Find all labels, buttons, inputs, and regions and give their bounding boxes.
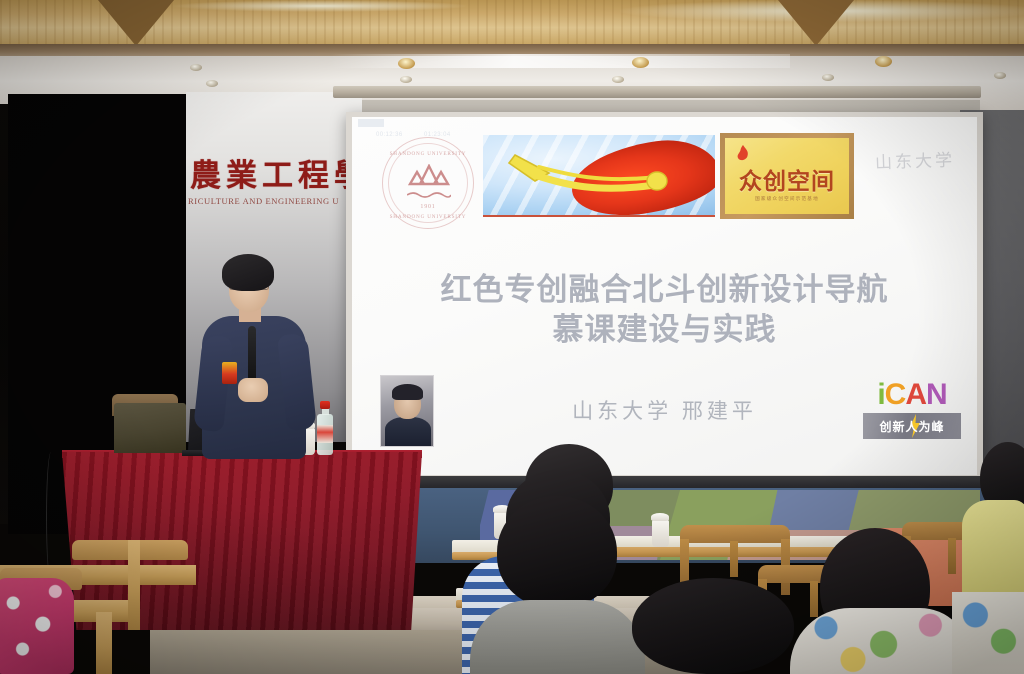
audience-grey-shirt xyxy=(470,600,645,674)
ceiling-downlight-2 xyxy=(206,80,218,87)
presenter-person xyxy=(196,254,312,459)
ceiling-downlight-9 xyxy=(994,72,1006,79)
plaque-subtitle-text: 国家级众创空间示范基地 xyxy=(725,196,849,202)
ppt-timer-left: 00:12:36 xyxy=(376,132,403,138)
ican-letter-i: i xyxy=(877,378,884,411)
plaque-title-text: 众创空间 xyxy=(725,162,849,196)
microphone xyxy=(248,326,256,382)
ceiling-cone-fixture-left xyxy=(98,0,174,46)
chair-1-slat xyxy=(730,541,738,577)
plaque-inner-panel: 众创空间 国家级众创空间示范基地 xyxy=(725,138,849,214)
venue-banner-chinese-text: 農業工程學 xyxy=(190,150,362,195)
ceiling-spotlight-1 xyxy=(398,58,415,69)
audience-floral-shirt-2 xyxy=(952,592,1024,674)
audience-head-foreground xyxy=(632,578,794,674)
ceiling-spotlight-2 xyxy=(632,57,649,68)
ppt-toolbar-bar xyxy=(358,119,384,127)
projector-screen-roller xyxy=(333,86,981,98)
ican-letter-a: A xyxy=(905,378,926,411)
monitor-rear-panel xyxy=(114,403,186,453)
venue-banner-english-text: RICULTURE AND ENGINEERING U xyxy=(188,196,364,206)
ican-tagline-text: 创新人为峰 xyxy=(879,418,944,435)
water-bottle xyxy=(317,401,333,455)
ceiling-downlight-1 xyxy=(190,64,202,71)
audience-floral-shirt xyxy=(790,608,970,674)
corner-calligraphy-text: 山东大学 xyxy=(875,146,956,174)
audience-teacup-2-lid xyxy=(651,513,669,521)
flame-icon xyxy=(736,145,750,162)
ceiling-downlight-7 xyxy=(822,74,834,81)
bottle-cap xyxy=(320,401,330,409)
bottle-neck xyxy=(322,408,329,415)
ceiling-downlight-3 xyxy=(400,76,412,83)
projector-screen-bottom-bar xyxy=(346,476,983,488)
trumpet-banner-image xyxy=(483,135,715,217)
ican-letter-c: C xyxy=(885,378,906,411)
slide-title-line1: 红色专创融合北斗创新设计导航 xyxy=(441,272,889,307)
trumpet-icon xyxy=(505,147,691,203)
chair-3-slat xyxy=(948,538,956,574)
ceiling-cone-fixture-right xyxy=(778,0,854,46)
ceiling-downlight-5 xyxy=(612,76,624,83)
audience-teacup-2-body xyxy=(652,520,669,547)
audience-head-3 xyxy=(497,496,617,608)
presenter-hair xyxy=(222,254,274,291)
ican-letter-n: N xyxy=(926,378,947,411)
seal-wave-icon xyxy=(407,190,451,198)
seal-text-top: SHANDONG UNIVERSITY xyxy=(383,151,473,157)
ican-wordmark: iCAN xyxy=(863,380,961,410)
ceiling-light-glow-left xyxy=(170,0,470,12)
bottle-label xyxy=(317,425,333,443)
projected-slide: 00:12:36 01:23:04 SHANDONG UNIVERSITY 19… xyxy=(352,117,977,475)
seal-text-bottom: SHANDONG UNIVERSITY xyxy=(383,214,473,220)
slide-title-line2: 慕课建设与实践 xyxy=(352,310,977,350)
foreground-chair-post xyxy=(128,540,140,630)
ceiling-spotlight-3 xyxy=(875,56,892,67)
presenter-hands xyxy=(238,378,268,402)
shandong-university-seal-icon: SHANDONG UNIVERSITY 1901 SHANDONG UNIVER… xyxy=(382,137,474,229)
audience-yellow-shirt xyxy=(962,500,1024,600)
foreground-floral-fabric xyxy=(0,578,74,674)
lecture-hall-photo: 農業工程學 RICULTURE AND ENGINEERING U 00:12:… xyxy=(0,0,1024,674)
maker-space-plaque: 众创空间 国家级众创空间示范基地 xyxy=(720,133,854,219)
power-cable xyxy=(46,452,56,582)
slide-title-block: 红色专创融合北斗创新设计导航 慕课建设与实践 xyxy=(352,270,977,349)
chair-2-slat xyxy=(810,581,818,617)
foreground-desk-2-leg xyxy=(96,612,112,674)
audience-teacup-2 xyxy=(650,513,668,545)
tshirt-logo xyxy=(222,362,237,384)
ican-tagline-bar: 创新人为峰 xyxy=(863,413,961,439)
seal-year: 1901 xyxy=(383,204,473,210)
ican-logo: iCAN 创新人为峰 xyxy=(863,380,961,439)
seal-mountain-emblem-icon xyxy=(405,164,453,192)
